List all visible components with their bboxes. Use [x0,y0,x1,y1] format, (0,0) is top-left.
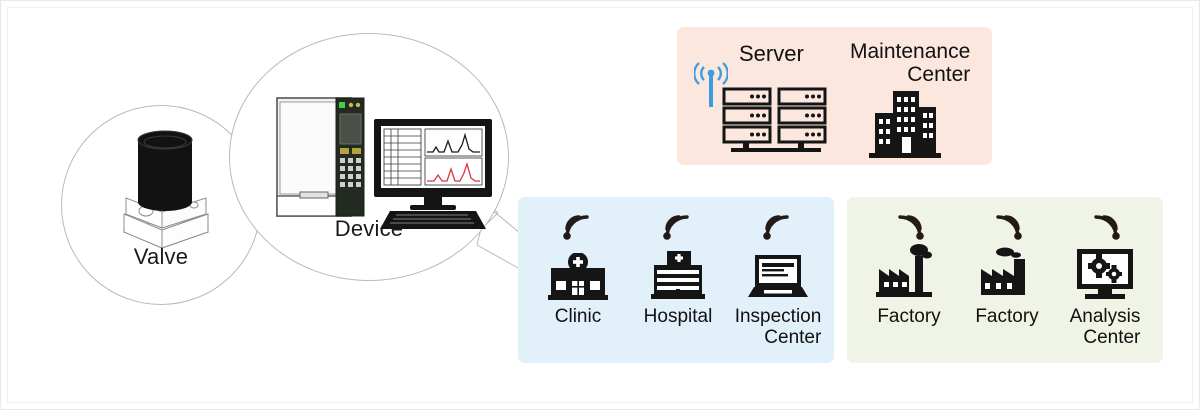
inspection-center-label: Inspection Center [735,307,822,348]
wifi-icon [558,209,598,243]
wifi-icon [987,209,1027,243]
factory-icon-wrap [975,243,1039,301]
factory-icon-wrap [875,243,943,301]
wifi-icon-wrap [758,207,798,243]
device-circle: Device [229,33,509,281]
factory-smokestack-icon [875,243,943,301]
analysis-center-label: Analysis Center [1070,307,1141,348]
analyzer-instrument-icon [274,96,374,226]
maintenance-center-label: Maintenance Center [850,41,970,86]
hospital-building-icon [647,251,709,301]
factory-label-1: Factory [877,307,940,328]
clinic-panel: Clinic [518,197,834,363]
hospital-icon-wrap [647,243,709,301]
office-building-icon [867,89,943,159]
wifi-icon [758,209,798,243]
factory-icon [975,243,1039,301]
laptop-icon [746,253,810,301]
device-label: Device [230,216,508,242]
server-label: Server [739,41,804,67]
factory-item-2: Factory [959,207,1055,328]
clinic-building-icon [547,253,609,301]
factory-item-1: Factory [861,207,957,328]
hospital-item: Hospital [628,207,728,328]
wifi-icon-wrap [987,207,1027,243]
wifi-icon-wrap [558,207,598,243]
laptop-icon-wrap [746,243,810,301]
analysis-icon-wrap [1073,243,1137,301]
hospital-label: Hospital [644,307,713,328]
wifi-icon [1085,209,1125,243]
wifi-icon [658,209,698,243]
wifi-icon-wrap [658,207,698,243]
server-rack-icon [721,87,831,157]
clinic-icon-wrap [547,243,609,301]
wifi-icon-wrap [889,207,929,243]
server-panel: Server Maintenance Ce [677,27,992,165]
clinic-item: Clinic [534,207,622,328]
clinic-label: Clinic [555,307,601,328]
wifi-icon [889,209,929,243]
factory-label-2: Factory [975,307,1038,328]
wifi-icon-wrap [1085,207,1125,243]
factory-panel: Factory [847,197,1163,363]
valve-label: Valve [62,244,260,270]
analysis-center-item: Analysis Center [1055,207,1155,348]
inspection-center-item: Inspection Center [724,207,832,348]
diagram-canvas: Valve [0,0,1200,410]
monitor-gears-icon [1073,249,1137,301]
